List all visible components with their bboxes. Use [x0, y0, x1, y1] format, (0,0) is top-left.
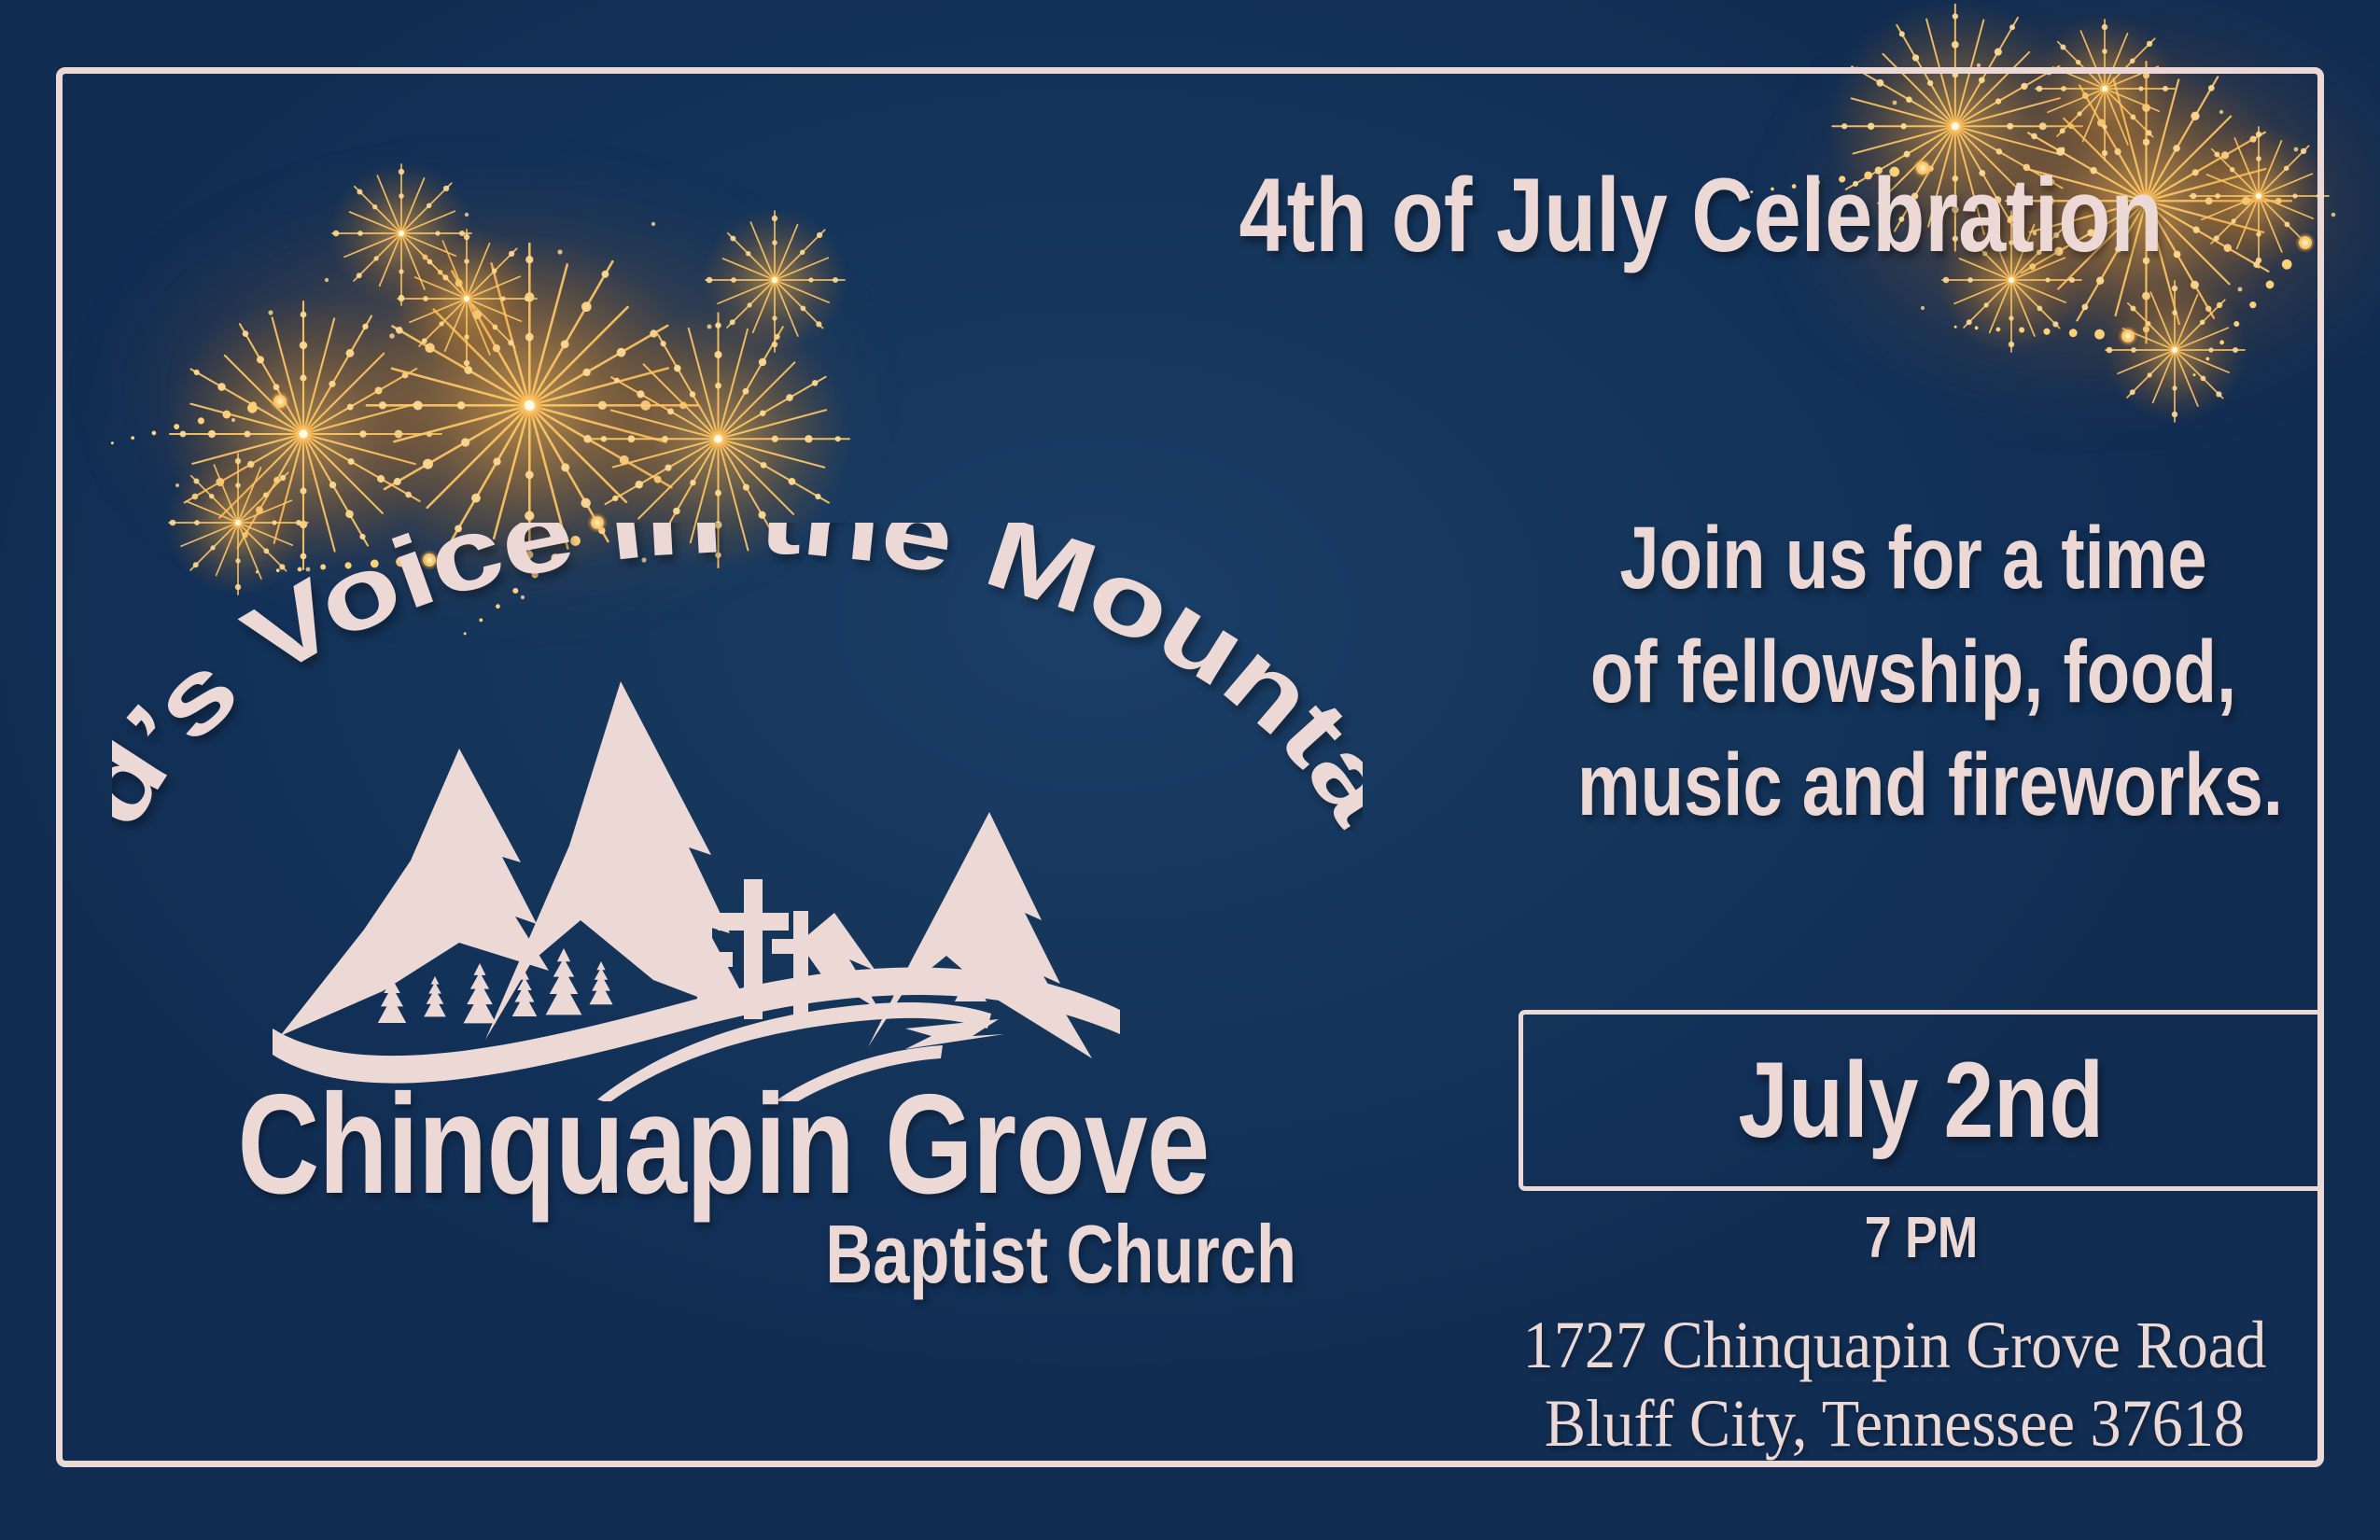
address-street: 1727 Chinquapin Grove Road	[1491, 1307, 2299, 1385]
event-date: July 2nd	[1739, 1047, 2105, 1155]
church-subname: Baptist Church	[328, 1213, 1306, 1295]
mountain-peaks-icon	[252, 663, 1185, 1101]
church-logo: God’s Voice in the Mountains	[112, 523, 1363, 1363]
invitation-line-2: of fellowship, food,	[1577, 616, 2249, 730]
firework-burst-left-f	[702, 207, 847, 353]
firework-burst-left-e	[329, 161, 474, 306]
event-date-box: July 2nd	[1519, 1010, 2324, 1191]
firework-comet-left-a	[111, 346, 293, 493]
event-address: 1727 Chinquapin Grove Road Bluff City, T…	[1491, 1307, 2299, 1463]
invitation-text: Join us for a time of fellowship, food, …	[1577, 502, 2249, 843]
firework-burst-right-e	[2102, 277, 2247, 423]
church-name: Chinquapin Grove	[234, 1073, 1212, 1215]
page-title: 4th of July Celebration	[1186, 163, 2216, 268]
firework-burst-left-d	[394, 226, 539, 371]
firework-burst-right-d	[2032, 16, 2177, 161]
event-flyer: God’s Voice in the Mountains	[0, 0, 2380, 1540]
invitation-line-1: Join us for a time	[1577, 502, 2249, 616]
event-time: 7 PM	[1583, 1210, 2260, 1267]
address-city-state-zip: Bluff City, Tennessee 37618	[1491, 1385, 2299, 1463]
invitation-line-3: music and fireworks.	[1577, 729, 2249, 843]
